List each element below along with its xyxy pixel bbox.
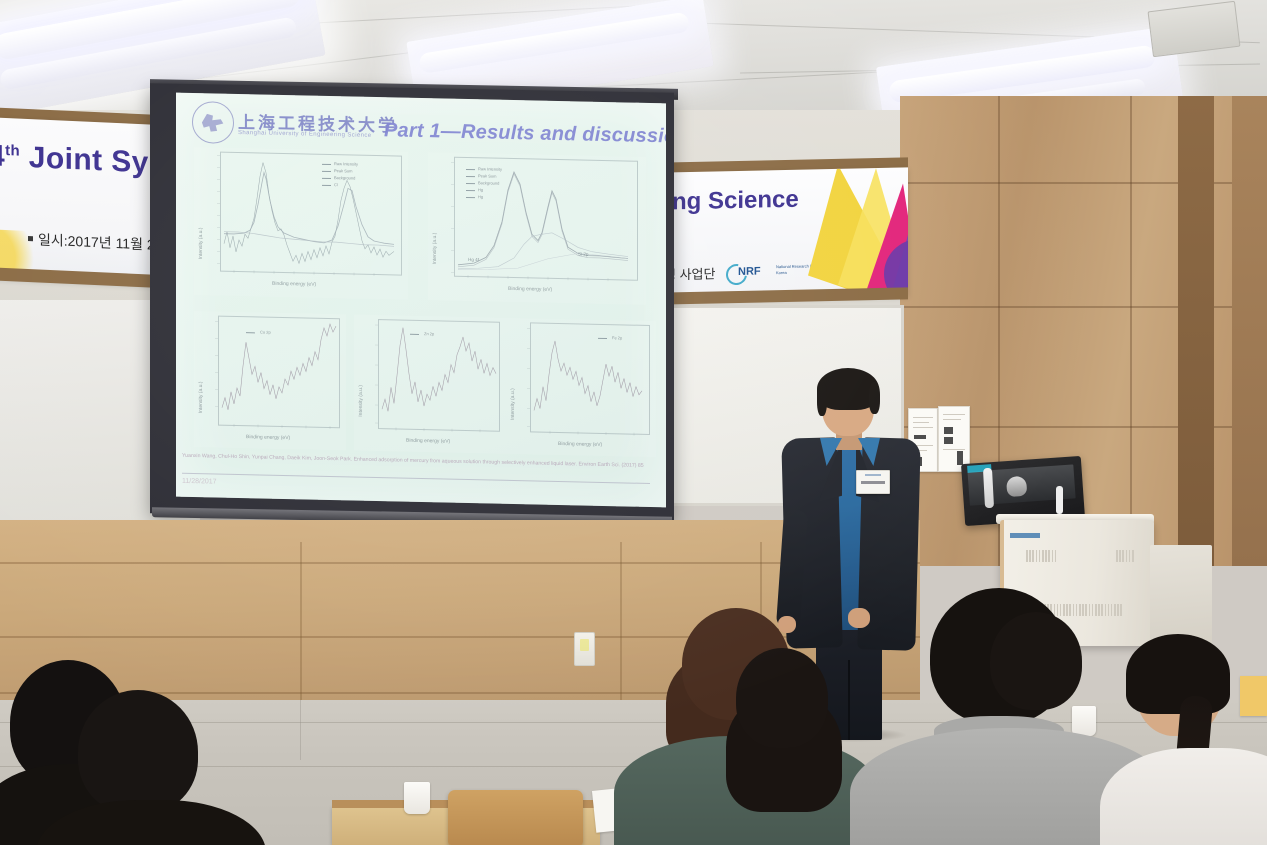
document-camera-icon <box>1006 476 1027 497</box>
chart2-legend-3: Hg <box>478 187 483 192</box>
microphone-secondary <box>1056 486 1063 514</box>
presentation-slide: 上海工程技术大学 Shanghai University of Engineer… <box>176 93 666 508</box>
chart2-legend-2: Background <box>478 180 499 185</box>
chart3-x-label: Binding energy (eV) <box>246 434 290 441</box>
banner-right: ring Science 성 사업단 NRF National Research… <box>660 167 908 300</box>
chart1-legend-3: Cl <box>334 182 338 187</box>
chart4-x-label: Binding energy (eV) <box>406 438 450 445</box>
chart2-legend-0: Raw Intensity <box>478 166 502 172</box>
wood-column-dark <box>1178 96 1214 566</box>
floor-seam <box>300 700 301 760</box>
slide-footer-rule <box>182 473 650 484</box>
chart2-plot <box>428 152 646 305</box>
lecture-hall-photo: 4th Joint Sym 일시:2017년 11월 2 ring Scienc… <box>0 0 1267 845</box>
banner-left-bullet <box>28 236 33 241</box>
chart2-legend-4: Hg <box>478 194 483 199</box>
audience-member-2 <box>48 690 248 845</box>
chart2-legend-1: Peak Sum <box>478 173 496 178</box>
chart1-plot <box>194 147 408 300</box>
chart-top-right: Intensity (a.u.) <box>428 152 646 305</box>
chart4-legend-0: Zn 2p <box>424 331 434 336</box>
banner-left-title-ordinal: th <box>5 142 20 160</box>
nrf-logo-icon: NRF <box>726 262 772 283</box>
chart-top-left: Intensity (a.u.) <box>194 147 408 300</box>
chair-front <box>448 790 583 845</box>
university-logo-icon <box>192 101 234 144</box>
wood-column-light <box>1232 96 1267 566</box>
nrf-logo-text: NRF <box>738 265 761 277</box>
chart1-x-label: Binding energy (eV) <box>272 281 316 288</box>
chart5-plot <box>506 318 656 457</box>
presenter-name-badge <box>856 470 890 494</box>
audience-member-7 <box>1110 640 1267 845</box>
slide-title: Part 1—Results and discussion <box>384 119 666 149</box>
wall-notice-right <box>938 406 970 472</box>
chart3-legend-0: Cu 2p <box>260 329 271 334</box>
chart-bottom-center: Intensity (a.u.) Zn 2p Binding energy (e… <box>354 315 506 454</box>
banner-right-artwork <box>768 167 908 300</box>
audience-member-6 <box>960 612 1110 812</box>
chart1-legend-1: Peak Sum <box>334 168 352 173</box>
chart1-legend-2: Background <box>334 175 355 180</box>
chart5-x-label: Binding energy (eV) <box>558 441 602 448</box>
banner-left-date: 일시:2017년 11월 2 <box>38 229 155 254</box>
paper-cup-left <box>404 782 430 814</box>
light-switch[interactable] <box>574 632 595 666</box>
chart5-legend-0: Fe 2p <box>612 335 622 340</box>
chart-bottom-right: Intensity (a.u.) Fe 2p Binding energy (e… <box>506 318 656 457</box>
lectern-label-strip <box>1010 533 1040 538</box>
slide-date-stamp: 11/28/2017 <box>182 478 217 486</box>
chart-bottom-left: Intensity (a.u.) Cu 2p Binding energy (e… <box>194 311 346 450</box>
chart2-annotation-1: Si 2p <box>578 251 588 256</box>
chart1-legend-0: Raw Intensity <box>334 161 358 167</box>
chart2-x-label: Binding energy (eV) <box>508 286 552 293</box>
chart2-annotation-0: Hg 4f <box>468 257 479 262</box>
